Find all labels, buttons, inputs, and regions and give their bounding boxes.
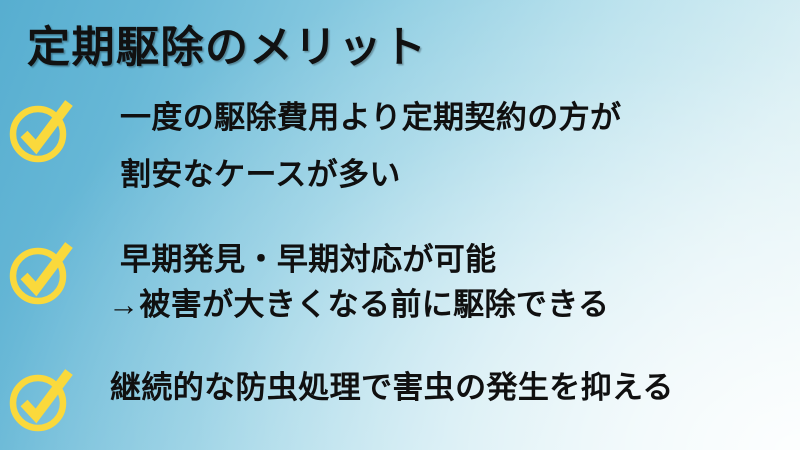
list-item-text-1: 一度の駆除費用より定期契約の方が 割安なケースが多い	[82, 92, 800, 190]
bullet-marker-1	[0, 92, 82, 166]
check-circle-icon	[5, 94, 77, 166]
list-item-text-3: 継続的な防虫処理で害虫の発生を抑える	[82, 360, 800, 403]
list-item-line: →被害が大きくなる前に駆除できる	[108, 289, 800, 320]
list-item-line: 割安なケースが多い	[120, 159, 800, 190]
bullet-list: 一度の駆除費用より定期契約の方が 割安なケースが多い 早期発見・早期対応が可能 …	[0, 92, 800, 440]
page-title: 定期駆除のメリット	[27, 24, 428, 72]
list-item-line: 早期発見・早期対応が可能	[120, 244, 800, 275]
check-circle-icon	[5, 363, 77, 435]
list-item: 一度の駆除費用より定期契約の方が 割安なケースが多い	[0, 92, 800, 232]
list-item: 早期発見・早期対応が可能 →被害が大きくなる前に駆除できる	[0, 232, 800, 360]
list-item: 継続的な防虫処理で害虫の発生を抑える	[0, 360, 800, 440]
bullet-marker-2	[0, 232, 82, 308]
list-item-line: 一度の駆除費用より定期契約の方が	[120, 102, 800, 133]
list-item-line: 継続的な防虫処理で害虫の発生を抑える	[110, 372, 800, 403]
bullet-marker-3	[0, 360, 82, 435]
list-item-text-2: 早期発見・早期対応が可能 →被害が大きくなる前に駆除できる	[82, 232, 800, 320]
check-circle-icon	[5, 236, 77, 308]
slide-canvas: 定期駆除のメリット 一度の駆除費用より定期契約の方が 割安なケースが多い	[0, 0, 800, 450]
